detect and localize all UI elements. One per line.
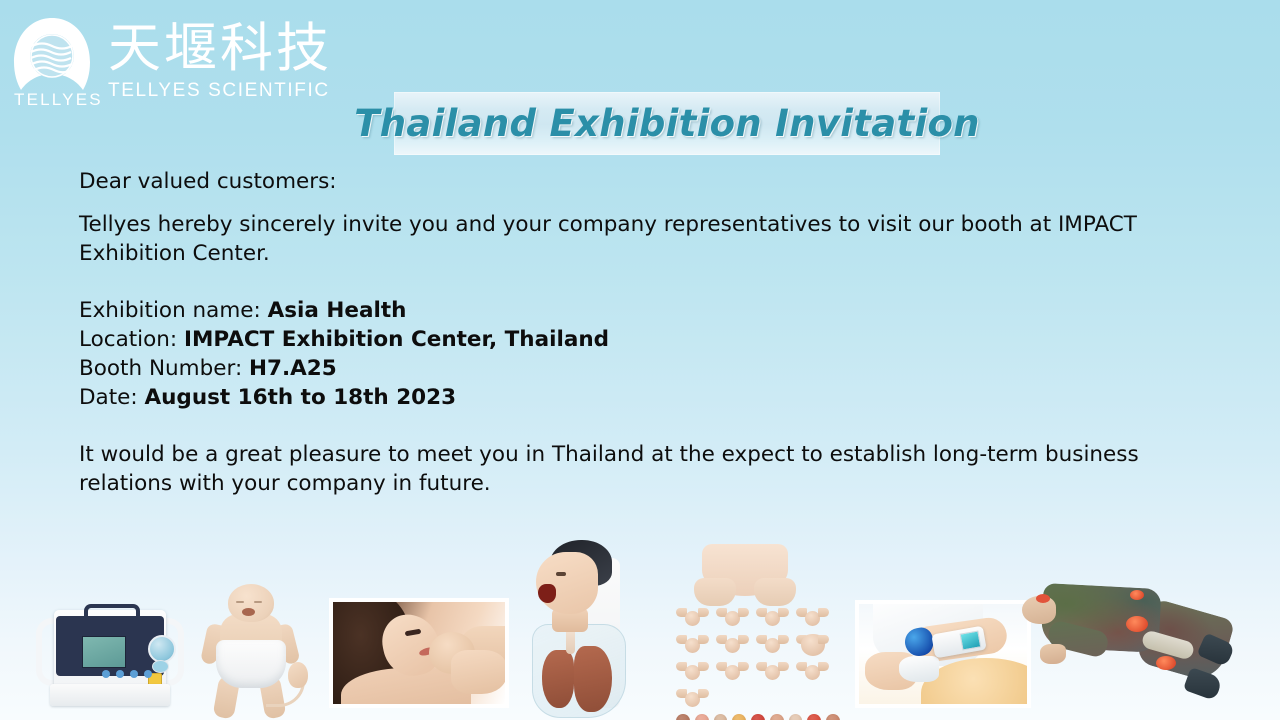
cervix-disc [826,714,840,720]
airway-intubation-lung-trainer-image [526,540,642,720]
uterus-model [716,606,749,628]
photo-content [333,602,505,704]
uterus-model [756,606,789,628]
uterus-model [796,660,829,682]
detail-value: Asia Health [268,298,407,323]
lung-left [542,650,574,708]
uterus-model-enlarged [796,633,829,655]
detail-label: Date: [79,385,138,410]
pelvis-leg-right [754,578,796,606]
monitor-energy-dial [148,635,176,663]
trainer-eye [556,572,566,576]
cervix-disc [807,714,821,720]
uterus-model-grid [672,606,840,720]
detail-exhibition-name: Exhibition name: Asia Health [79,296,1229,325]
infant-squeeze-bulb [288,662,308,688]
company-name-cn: 天堰科技 [108,20,332,78]
maternity-newborn-care-photo-image [329,598,509,708]
brand-logo: TELLYES 天堰科技 TELLYES SCIENTIFIC [8,14,332,114]
detail-date: Date: August 16th to 18th 2023 [79,383,1229,412]
uterus-model-row [672,606,840,628]
monitor-screen [82,636,126,668]
salutation: Dear valued customers: [79,167,1229,196]
pelvis-legs [694,578,796,608]
invitation-slide: TELLYES 天堰科技 TELLYES SCIENTIFIC Thailand… [0,0,1280,720]
cervix-disc [714,714,728,720]
doppler-display [960,630,982,650]
detail-label: Booth Number: [79,356,242,381]
product-image-strip [0,520,1280,720]
photo-card-frame [329,598,509,708]
detail-booth-number: Booth Number: H7.A25 [79,354,1229,383]
company-name-en: TELLYES SCIENTIFIC [108,80,332,102]
photo-content [859,604,1027,704]
infant-eye-right [254,601,262,603]
title-banner: Thailand Exhibition Invitation [394,92,940,155]
trainer-open-mouth [538,584,556,603]
monitor-base [50,684,170,706]
military-trauma-manikin-image [1014,572,1240,718]
detail-value: IMPACT Exhibition Center, Thailand [184,327,609,352]
cervix-disc [751,714,765,720]
lung-right [574,646,612,712]
patient-monitor-defibrillator-image [36,602,184,714]
manikin-wound [1130,590,1144,600]
photo-card-frame [855,600,1031,708]
cervix-disc [789,714,803,720]
manikin-wound [1156,656,1176,670]
cervix-disc [676,714,690,720]
uterus-model [676,606,709,628]
monitor-secondary-dial [152,660,169,673]
uterus-model [716,633,749,655]
trainer-face [536,552,598,614]
manikin-wound [1126,616,1148,632]
manikin-head-wound [1036,594,1050,603]
uterus-model-row [672,687,840,709]
monitor-keypad [102,670,152,678]
uterus-model [676,687,709,709]
intro-paragraph: Tellyes hereby sincerely invite you and … [79,210,1229,268]
uterus-model-row [672,633,840,655]
uterus-model [796,606,829,628]
detail-label: Location: [79,327,177,352]
invitation-body: Dear valued customers: Tellyes hereby si… [79,167,1229,498]
infant-eye-left [236,601,244,603]
logo-wordmark: TELLYES [14,90,102,110]
gynecology-uterus-model-set-image [672,544,840,720]
detail-value: August 16th to 18th 2023 [144,385,456,410]
pelvis-leg-left [694,578,736,606]
infant-mouth [242,608,255,616]
closing-paragraph: It would be a great pleasure to meet you… [79,440,1194,498]
tellyes-dome-wave-logo-icon: TELLYES [8,14,96,114]
manikin-hand [1040,644,1066,664]
uterus-model [676,660,709,682]
manikin-boot [1183,667,1223,701]
supporting-hand [451,650,505,694]
cervix-dilation-disc-row [672,714,840,720]
infant-cpr-manikin-image [196,584,316,716]
ultrasound-probe [899,656,939,682]
uterus-model [716,660,749,682]
page-title: Thailand Exhibition Invitation [354,102,980,145]
detail-label: Exhibition name: [79,298,261,323]
cervix-disc [732,714,746,720]
uterus-model [676,633,709,655]
detail-value: H7.A25 [249,356,337,381]
monitor-faceplate [56,616,164,676]
uterus-model [756,633,789,655]
fetal-doppler-ultrasound-photo-image [855,600,1031,708]
uterus-model [756,660,789,682]
detail-location: Location: IMPACT Exhibition Center, Thai… [79,325,1229,354]
infant-head [228,584,274,622]
cervix-disc [695,714,709,720]
cervix-disc [770,714,784,720]
uterus-model-row [672,660,840,682]
